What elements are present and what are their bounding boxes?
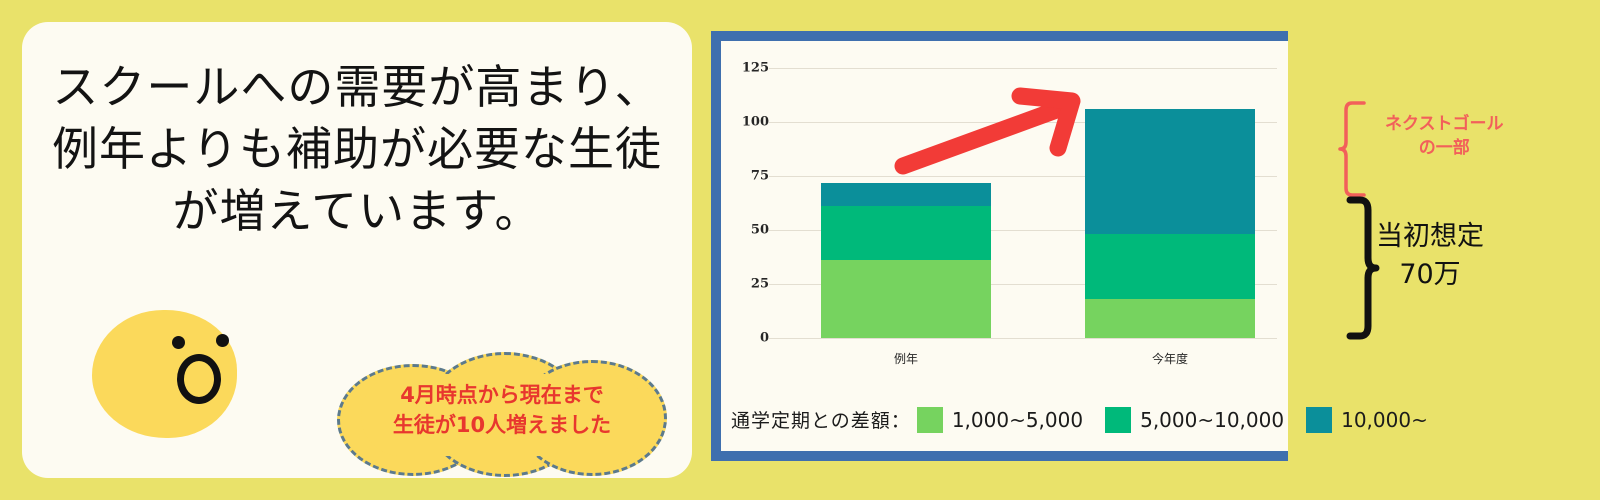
chart-panel: 0255075100125例年今年度 通学定期との差額： 1,000~5,000… [721,41,1288,451]
headline-line-3: が増えています。 [22,180,692,242]
next-goal-bracket [1340,103,1364,195]
y-axis: 0255075100125 [721,41,769,451]
bar-chart-plot: 0255075100125例年今年度 [721,41,1288,451]
bar-column[interactable] [821,182,991,338]
callout-line-2: 生徒が10人増えました [337,410,667,440]
legend-label: 10,000~ [1341,408,1428,432]
legend-label: 1,000~5,000 [952,408,1083,432]
bar-segment[interactable] [821,260,991,338]
bar-segment[interactable] [1085,299,1255,338]
y-axis-tick-label: 0 [729,331,769,346]
y-axis-tick-label: 75 [729,169,769,184]
next-goal-annotation: ネクストゴール の一部 [1385,112,1504,160]
face-right-eye-icon [216,334,229,347]
poster-canvas: スクールへの需要が高まり、 例年よりも補助が必要な生徒 が増えています。 4月時… [0,0,1600,500]
y-axis-tick-label: 100 [729,115,769,130]
x-axis-tick-label: 例年 [846,350,966,367]
y-axis-tick-label: 25 [729,277,769,292]
headline-line-1: スクールへの需要が高まり、 [22,56,692,118]
page-title: スクールへの需要が高まり、 例年よりも補助が必要な生徒 が増えています。 [22,56,692,242]
headline-line-2: 例年よりも補助が必要な生徒 [22,118,692,180]
face-mouth-icon [177,354,221,404]
callout-bubble: 4月時点から現在まで 生徒が10人増えました [337,352,667,477]
initial-plan-line-2: 70万 [1376,256,1484,294]
legend-label: 5,000~10,000 [1140,408,1284,432]
grid-line [769,68,1277,69]
next-goal-line-2: の一部 [1385,136,1504,160]
legend-item[interactable]: 10,000~ [1306,407,1428,433]
surprised-face-icon [92,310,237,438]
legend-swatch [917,407,943,433]
left-message-panel: スクールへの需要が高まり、 例年よりも補助が必要な生徒 が増えています。 4月時… [22,22,692,478]
bar-column[interactable] [1085,109,1255,338]
initial-plan-annotation: 当初想定 70万 [1376,218,1484,294]
face-left-eye-icon [172,336,185,349]
x-axis-tick-label: 今年度 [1110,350,1230,367]
legend-item[interactable]: 1,000~5,000 [917,407,1083,433]
next-goal-line-1: ネクストゴール [1385,112,1504,136]
legend-item[interactable]: 5,000~10,000 [1105,407,1284,433]
callout-text: 4月時点から現在まで 生徒が10人増えました [337,380,667,440]
legend-title: 通学定期との差額： [731,406,911,433]
initial-plan-line-1: 当初想定 [1376,218,1484,256]
bar-segment[interactable] [821,206,991,260]
bar-segment[interactable] [1085,109,1255,234]
bar-segment[interactable] [821,183,991,207]
callout-line-1: 4月時点から現在まで [337,380,667,410]
grid-line [769,338,1277,339]
bar-segment[interactable] [1085,234,1255,299]
legend-swatch [1306,407,1332,433]
y-axis-tick-label: 125 [729,61,769,76]
legend-swatch [1105,407,1131,433]
chart-legend: 通学定期との差額： 1,000~5,0005,000~10,00010,000~ [731,406,1450,433]
initial-plan-bracket [1350,200,1376,336]
y-axis-tick-label: 50 [729,223,769,238]
